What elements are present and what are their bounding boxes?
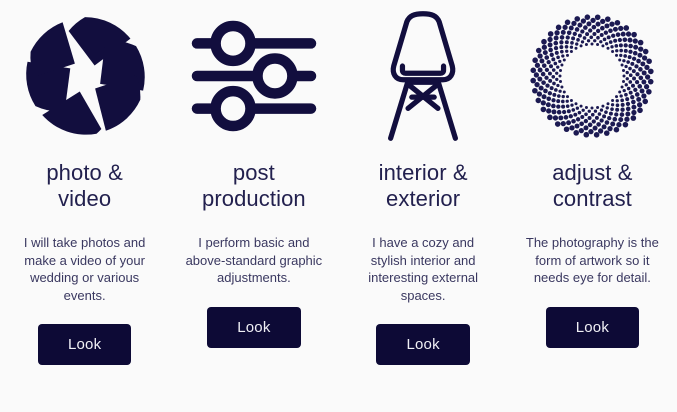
card-title-line-1: photo & — [46, 160, 123, 185]
look-button[interactable]: Look — [546, 307, 639, 348]
card-title-line-2: contrast — [553, 186, 632, 211]
service-card-photo-video: photo & video I will take photos and mak… — [0, 10, 169, 400]
services-grid: photo & video I will take photos and mak… — [0, 0, 677, 412]
card-title-line-1: post — [233, 160, 275, 185]
card-title-line-1: interior & — [379, 160, 468, 185]
service-card-post-production: post production I perform basic and abov… — [169, 10, 338, 400]
card-title: photo & video — [46, 160, 123, 212]
service-card-interior-exterior: interior & exterior I have a cozy and st… — [339, 10, 508, 400]
card-title: interior & exterior — [379, 160, 468, 212]
card-title-line-1: adjust & — [552, 160, 632, 185]
spiral-dots-contrast-icon — [530, 10, 654, 142]
sliders-adjust-icon — [190, 10, 318, 142]
look-button[interactable]: Look — [38, 324, 131, 365]
card-title: post production — [202, 160, 306, 212]
card-title: adjust & contrast — [552, 160, 632, 212]
look-button[interactable]: Look — [207, 307, 300, 348]
camera-aperture-icon — [21, 10, 149, 142]
chair-icon — [373, 10, 473, 142]
card-description: I perform basic and above-standard graph… — [184, 234, 324, 287]
card-title-line-2: production — [202, 186, 306, 211]
look-button[interactable]: Look — [376, 324, 469, 365]
card-description: I have a cozy and stylish interior and i… — [353, 234, 493, 304]
card-title-line-2: exterior — [386, 186, 460, 211]
card-title-line-2: video — [58, 186, 111, 211]
card-description: I will take photos and make a video of y… — [15, 234, 155, 304]
service-card-adjust-contrast: adjust & contrast The photography is the… — [508, 10, 677, 400]
card-description: The photography is the form of artwork s… — [522, 234, 662, 287]
